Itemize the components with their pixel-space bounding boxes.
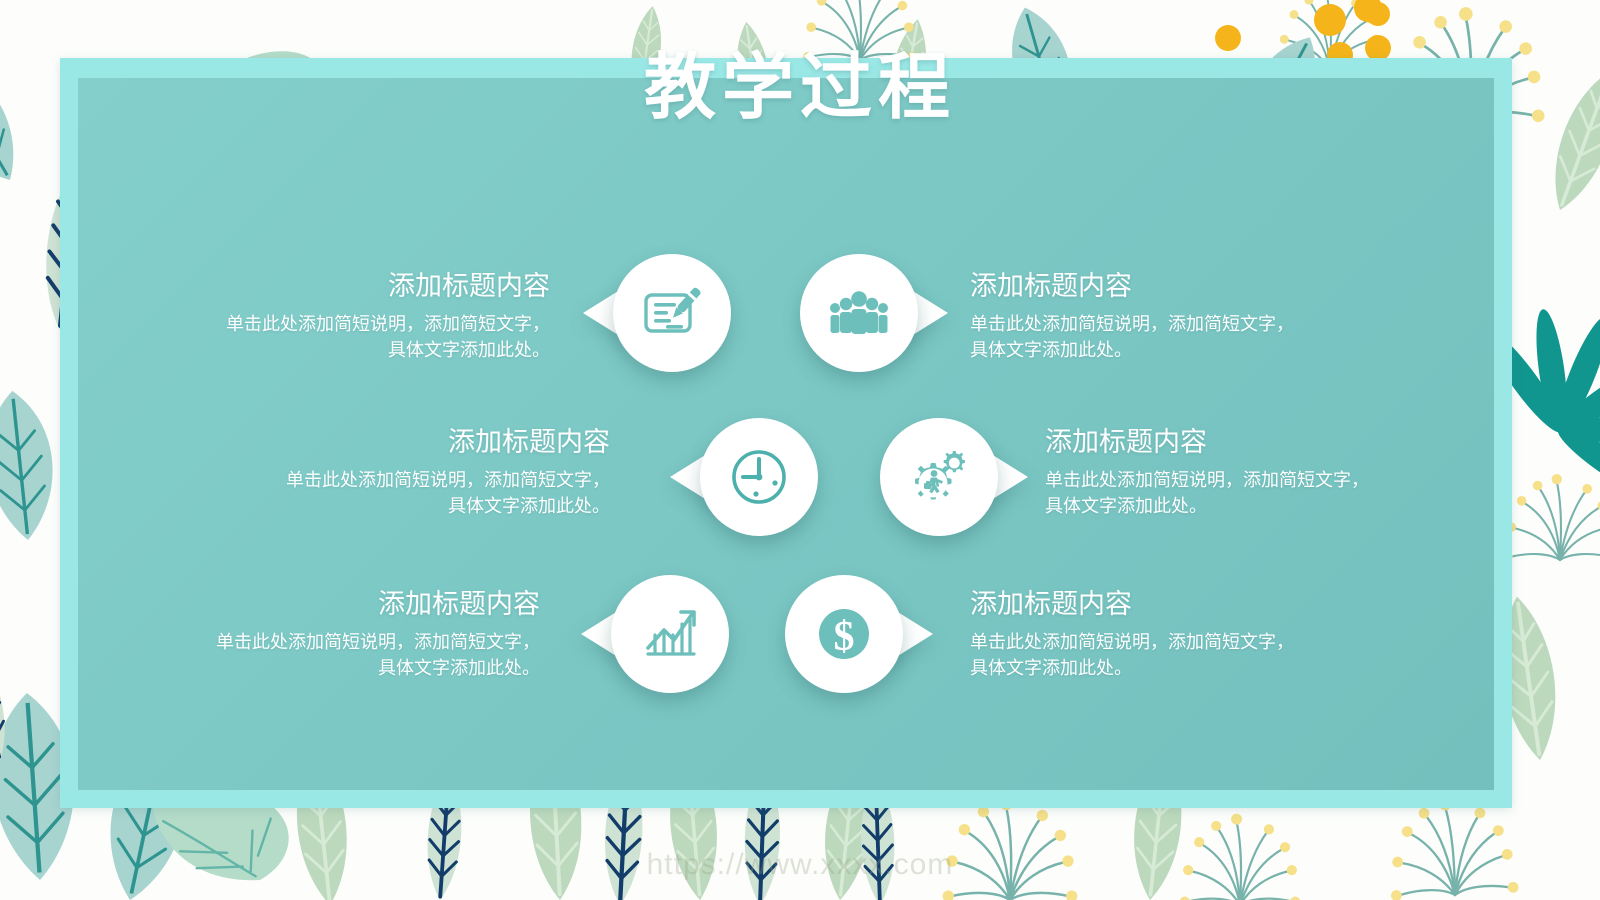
item-6-bubble[interactable]: $	[785, 575, 903, 693]
item-6-text: 添加标题内容 单击此处添加简短说明，添加简短文字， 具体文字添加此处。	[970, 590, 1390, 681]
item-6-body-line1: 单击此处添加简短说明，添加简短文字，	[970, 629, 1390, 655]
item-3-text: 添加标题内容 单击此处添加简短说明，添加简短文字， 具体文字添加此处。	[210, 428, 610, 519]
svg-text:$: $	[834, 614, 855, 660]
growth-chart-icon	[611, 575, 729, 693]
item-2-heading: 添加标题内容	[970, 272, 1390, 302]
item-1-text: 添加标题内容 单击此处添加简短说明，添加简短文字， 具体文字添加此处。	[150, 272, 550, 363]
item-3-body-line2: 具体文字添加此处。	[210, 493, 610, 519]
item-1-heading: 添加标题内容	[150, 272, 550, 302]
page-title: 教学过程	[0, 52, 1600, 124]
item-6-body-line2: 具体文字添加此处。	[970, 655, 1390, 681]
item-1-bubble[interactable]	[613, 254, 731, 372]
document-pen-icon	[613, 254, 731, 372]
item-2-bubble[interactable]	[800, 254, 918, 372]
item-6-heading: 添加标题内容	[970, 590, 1390, 620]
item-3-body-line1: 单击此处添加简短说明，添加简短文字，	[210, 467, 610, 493]
item-4-text: 添加标题内容 单击此处添加简短说明，添加简短文字， 具体文字添加此处。	[1045, 428, 1465, 519]
item-2-body-line1: 单击此处添加简短说明，添加简短文字，	[970, 311, 1390, 337]
item-5-body-line2: 具体文字添加此处。	[140, 655, 540, 681]
item-5-heading: 添加标题内容	[140, 590, 540, 620]
gear-businessman-icon	[880, 418, 998, 536]
item-5-body-line1: 单击此处添加简短说明，添加简短文字，	[140, 629, 540, 655]
clock-icon	[700, 418, 818, 536]
item-5-bubble[interactable]	[611, 575, 729, 693]
item-1-body-line2: 具体文字添加此处。	[150, 337, 550, 363]
people-group-icon	[800, 254, 918, 372]
item-4-body-line2: 具体文字添加此处。	[1045, 493, 1465, 519]
item-5-text: 添加标题内容 单击此处添加简短说明，添加简短文字， 具体文字添加此处。	[140, 590, 540, 681]
item-3-bubble[interactable]	[700, 418, 818, 536]
item-4-bubble[interactable]	[880, 418, 998, 536]
dollar-coin-icon: $	[785, 575, 903, 693]
item-4-body-line1: 单击此处添加简短说明，添加简短文字，	[1045, 467, 1465, 493]
item-4-heading: 添加标题内容	[1045, 428, 1465, 458]
item-2-text: 添加标题内容 单击此处添加简短说明，添加简短文字， 具体文字添加此处。	[970, 272, 1390, 363]
item-1-body-line1: 单击此处添加简短说明，添加简短文字，	[150, 311, 550, 337]
item-3-heading: 添加标题内容	[210, 428, 610, 458]
item-2-body-line2: 具体文字添加此处。	[970, 337, 1390, 363]
process-diagram: 添加标题内容 单击此处添加简短说明，添加简短文字， 具体文字添加此处。	[0, 0, 1600, 900]
